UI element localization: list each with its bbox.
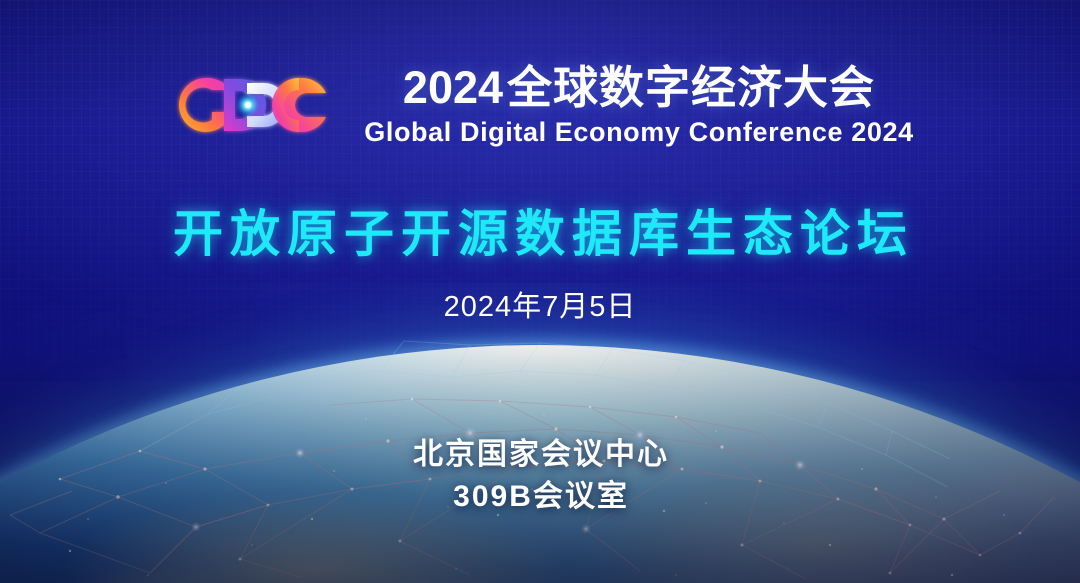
event-date: 2024年7月5日	[0, 289, 1080, 325]
earth-artwork	[0, 283, 1080, 583]
conference-title-cn: 2024全球数字经济大会	[403, 62, 875, 114]
gdec-logo-icon	[166, 67, 338, 143]
venue-block: 北京国家会议中心 309B会议室	[0, 434, 1080, 518]
conference-header: 2024全球数字经济大会 Global Digital Economy Conf…	[0, 62, 1080, 148]
venue-name: 北京国家会议中心	[0, 434, 1080, 476]
venue-room: 309B会议室	[0, 476, 1080, 518]
conference-title-block: 2024全球数字经济大会 Global Digital Economy Conf…	[364, 62, 913, 148]
gdec-logo	[166, 67, 338, 143]
forum-title: 开放原子开源数据库生态论坛	[0, 204, 1080, 264]
conference-title-year: 2024	[403, 62, 503, 113]
conference-title-cn-text: 全球数字经济大会	[507, 62, 875, 113]
conference-title-en: Global Digital Economy Conference 2024	[364, 116, 913, 148]
conference-poster: 2024全球数字经济大会 Global Digital Economy Conf…	[0, 0, 1080, 583]
